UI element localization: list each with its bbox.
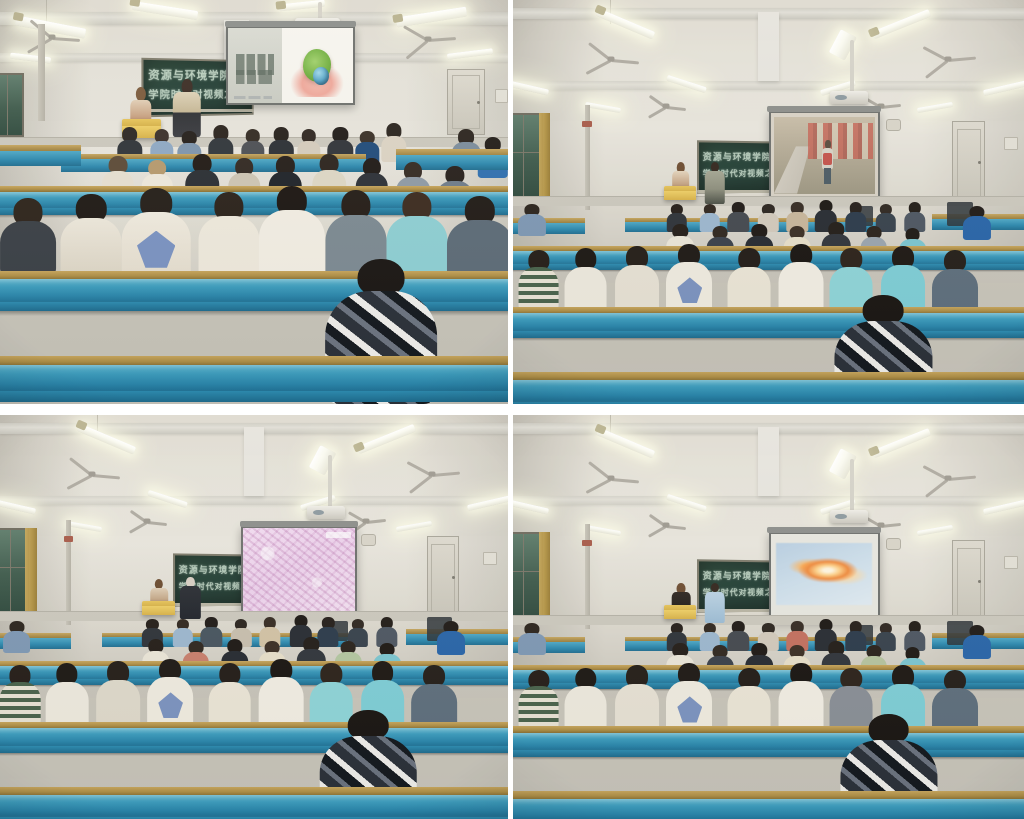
screen-roller: [767, 106, 881, 112]
projection-screen: [226, 26, 354, 105]
screen-roller: [767, 527, 881, 533]
slide-subheading-strokes: [236, 70, 272, 83]
ceiling-beam: [0, 496, 508, 505]
ceiling-fan: [927, 53, 969, 65]
slide-footer-text: [234, 96, 271, 100]
photo-top-right[interactable]: 资源与环境学院 学院时代对视频之星: [513, 0, 1024, 404]
wall-outlet: [1004, 137, 1018, 150]
slide-corner-label: [326, 532, 351, 538]
door: [447, 69, 485, 136]
photo-collage: 资源与环境学院 学院时代对视频之星: [0, 0, 1024, 819]
curtain: [539, 113, 550, 198]
screen-roller: [225, 21, 356, 27]
ceiling-fan: [30, 30, 74, 44]
flame-graphic: [776, 543, 873, 606]
slide-microscopy: [243, 528, 355, 613]
screen-surface: [771, 534, 878, 619]
projector-mount: [850, 459, 854, 516]
slide-flame: [771, 534, 878, 619]
presenter-speaker: [180, 577, 200, 619]
ceiling-beam: [513, 81, 1024, 90]
ceiling-soffit: [244, 427, 264, 496]
lectern: [664, 186, 697, 201]
projection-screen: [769, 111, 880, 200]
ceiling-fan: [411, 468, 453, 480]
photo-bottom-left[interactable]: 资源与环境学院 学院时代对视频之星: [0, 415, 508, 819]
bench-row: [513, 791, 1024, 819]
screen-roller: [240, 521, 358, 527]
wall-outlet: [1004, 556, 1018, 569]
lecture-hall-scene-1: 资源与环境学院 学院时代对视频之星: [0, 0, 508, 404]
ceiling-fan: [71, 468, 113, 480]
lecture-hall-scene-3: 资源与环境学院 学院时代对视频之星: [0, 415, 508, 819]
presenter-speaker: [173, 79, 201, 138]
screen-surface: [771, 113, 878, 198]
bench-row: [0, 356, 508, 404]
slide-environment: [228, 28, 352, 103]
wall-outlet: [495, 89, 508, 103]
bench-row: [513, 307, 1024, 339]
bench-row: [513, 726, 1024, 758]
wall-speaker: [886, 119, 901, 131]
bench-row: [0, 787, 508, 819]
bench-far: [0, 145, 81, 165]
photo-top-left[interactable]: 资源与环境学院 学院时代对视频之星: [0, 0, 508, 404]
speaker-body: [705, 171, 725, 204]
slide-text-panel: [228, 28, 282, 103]
ceiling-fan: [927, 472, 969, 484]
door: [952, 540, 985, 623]
wall-speaker: [886, 538, 901, 550]
projector-mount: [850, 40, 854, 97]
photo-bottom-right[interactable]: 资源与环境学院 学院时代对视频之星: [513, 415, 1024, 819]
projector: [830, 510, 868, 523]
video-crowd: [808, 123, 873, 158]
projector: [307, 506, 345, 519]
ceiling-soffit: [758, 12, 778, 81]
projection-screen: [241, 526, 357, 615]
ceiling-fan: [406, 32, 450, 46]
ceiling-fan: [590, 53, 632, 65]
curtain: [539, 532, 550, 617]
presenter-speaker: [705, 583, 725, 623]
door: [427, 536, 459, 619]
speaker-body: [180, 586, 200, 619]
ceiling-fan: [590, 472, 632, 484]
wall-outlet: [483, 552, 497, 565]
curtain: [25, 528, 36, 613]
projector: [830, 91, 868, 104]
ceiling-fan: [651, 520, 681, 529]
slide-photo-panel: [282, 28, 353, 103]
ceiling-beam: [513, 496, 1024, 505]
door: [952, 121, 985, 204]
projection-screen: [769, 532, 880, 621]
lecture-hall-scene-4: 资源与环境学院 学院时代对视频之星: [513, 415, 1024, 819]
video-figure: [821, 140, 834, 184]
video-frame: [774, 117, 875, 193]
lecture-hall-scene-2: 资源与环境学院 学院时代对视频之星: [513, 0, 1024, 404]
slide-video: [771, 113, 878, 198]
lectern: [142, 601, 175, 616]
ceiling-soffit: [758, 427, 778, 496]
lectern: [664, 605, 697, 620]
bench-row: [0, 722, 508, 754]
wall-pipe: [38, 24, 45, 121]
pipe-marker: [582, 540, 591, 546]
pipe-marker: [582, 121, 591, 127]
projector-mount: [328, 455, 332, 512]
window: [0, 73, 24, 138]
speaker-body: [705, 592, 725, 624]
bench-row: [513, 372, 1024, 404]
globe-graphic: [313, 67, 329, 85]
screen-surface: [243, 528, 355, 613]
screen-surface: [228, 28, 352, 103]
pipe-marker: [64, 536, 73, 542]
wall-speaker: [361, 534, 376, 546]
ceiling-fan: [132, 516, 162, 525]
ceiling-fan: [651, 101, 681, 110]
presenter-speaker: [705, 162, 725, 204]
